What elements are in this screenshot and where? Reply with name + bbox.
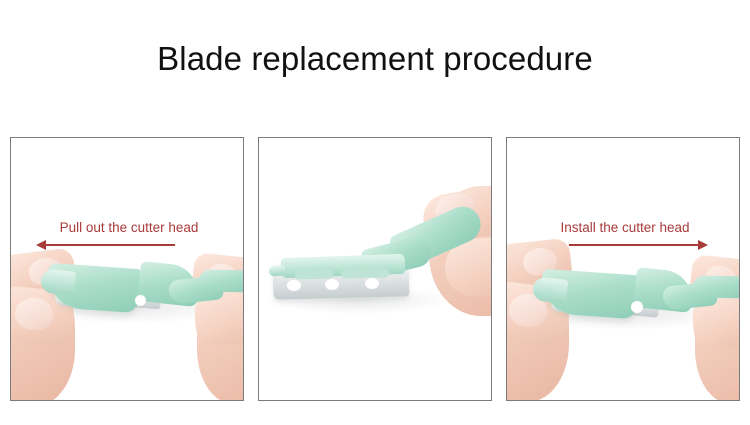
arrow-left-icon — [45, 244, 175, 246]
blade-tip-hook — [269, 265, 286, 276]
panel-install-cutter-head: Install the cutter head — [506, 137, 740, 401]
blade-notch-3 — [365, 278, 379, 289]
panel-pull-out-cutter-head: Pull out the cutter head — [10, 137, 244, 401]
blade-mount-notch — [135, 295, 146, 306]
blade-mount-notch — [631, 301, 643, 313]
blade-replacement-infographic: Blade replacement procedure — [0, 0, 750, 425]
panel-cutter-head-detail — [258, 137, 492, 401]
callout-text-install: Install the cutter head — [509, 220, 740, 235]
blade-slot-left — [295, 270, 333, 280]
blade-notch-2 — [325, 279, 339, 290]
arrow-right-icon — [569, 244, 699, 246]
handle-green-shaft — [693, 275, 740, 298]
blade-notch-1 — [287, 280, 301, 291]
panel-row: Pull out the cutter head — [10, 137, 740, 401]
blade-slot-right — [341, 268, 389, 278]
page-title: Blade replacement procedure — [0, 38, 750, 80]
callout-text-pull-out: Pull out the cutter head — [13, 220, 244, 235]
photo-install-cutter-head: Install the cutter head — [507, 138, 739, 400]
photo-cutter-head-detail — [259, 138, 491, 400]
handle-green-shaft — [199, 269, 244, 292]
photo-pull-out-cutter-head: Pull out the cutter head — [11, 138, 243, 400]
